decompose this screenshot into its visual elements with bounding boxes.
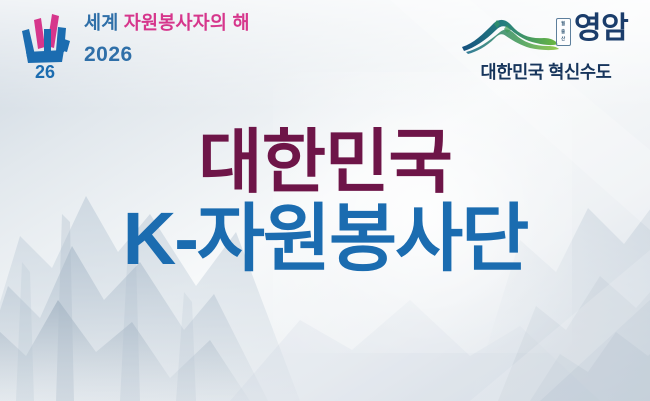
- yeongam-name: 영암: [574, 11, 628, 47]
- seal-char-3: 산: [561, 37, 565, 41]
- yeongam-subtitle: 대한민국 혁신수도: [452, 59, 640, 84]
- wolchulsan-seal-icon: 월 출 산: [556, 18, 571, 46]
- k-volunteer-corps-banner: 26 세계 자원봉사자의 해 2026: [0, 0, 650, 401]
- iyv-tagline-blue-part: 세계: [84, 12, 118, 33]
- wolchulsan-mountain-icon: [460, 13, 560, 55]
- iyv-hand-logo: 26: [14, 8, 76, 80]
- main-headline: 대한민국 K-자원봉사단: [0, 126, 650, 278]
- banner-header: 26 세계 자원봉사자의 해 2026: [0, 0, 650, 96]
- iyv-logo-year: 26: [35, 62, 55, 80]
- yeongam-logo-group: 월 출 산 영암 대한민국 혁신수도: [452, 7, 642, 91]
- seal-char-2: 출: [561, 30, 565, 34]
- seal-char-1: 월: [561, 22, 565, 26]
- iyv-tagline-pink-part: 자원봉사자의 해: [124, 12, 250, 33]
- yeongam-logo-top-row: 월 출 산 영암: [452, 7, 642, 57]
- iyv-tagline-group: 세계 자원봉사자의 해 2026: [84, 14, 250, 65]
- iyv-year: 2026: [84, 44, 250, 65]
- iyv-tagline: 세계 자원봉사자의 해: [84, 14, 250, 33]
- headline-line-1: 대한민국: [0, 126, 650, 199]
- headline-line-2: K-자원봉사단: [0, 201, 650, 278]
